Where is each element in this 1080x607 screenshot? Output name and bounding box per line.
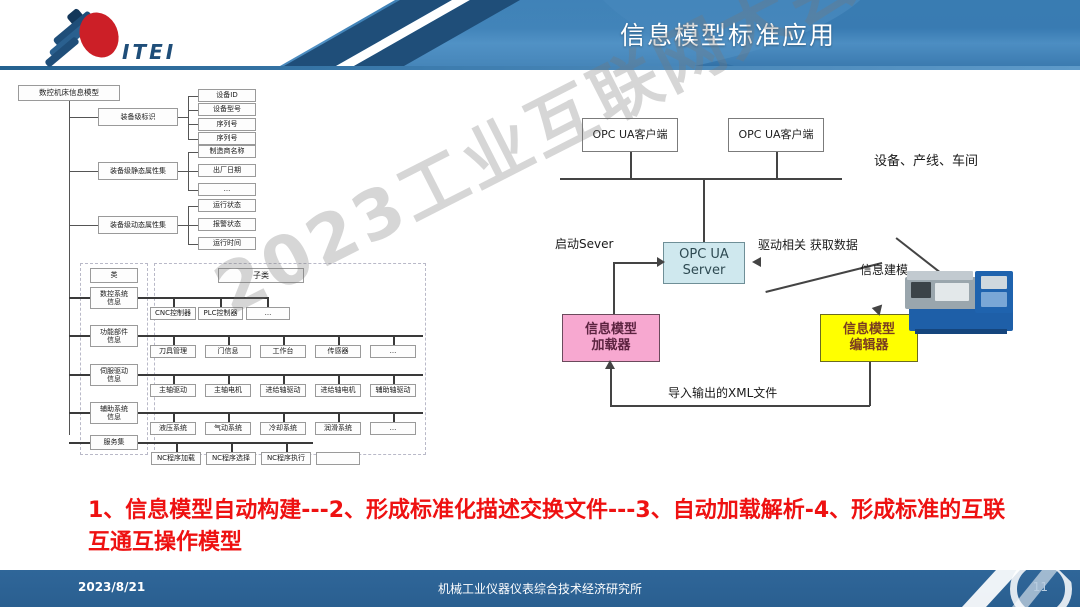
xml-path-line-bottom bbox=[610, 405, 870, 407]
xml-file-label: 导入输出的XML文件 bbox=[668, 384, 777, 401]
logo-wordmark: ITEI bbox=[122, 40, 176, 64]
subclass-drop-line bbox=[267, 297, 269, 307]
tree-connector-line bbox=[178, 117, 188, 118]
page-number: 11 bbox=[1033, 580, 1048, 594]
tree-branch-line bbox=[69, 374, 90, 376]
subclass-bus-line bbox=[138, 297, 268, 299]
network-bus-line bbox=[560, 178, 842, 180]
tree-leaf-box: 序列号 bbox=[198, 132, 256, 145]
subclass-box: NC程序选择 bbox=[206, 452, 256, 465]
opc-ua-client-right-box: OPC UA客户端 bbox=[728, 118, 824, 152]
subclass-bus-line bbox=[138, 374, 423, 376]
machine-keypad bbox=[981, 292, 1007, 307]
tree-connector-line bbox=[178, 171, 188, 172]
subclass-drop-line bbox=[283, 412, 285, 422]
subclass-drop-line bbox=[393, 335, 395, 345]
tree-node-dynamic-attributes: 装备级动态属性集 bbox=[98, 216, 178, 234]
category-box-cnc-system: 数控系统 信息 bbox=[90, 287, 138, 309]
footer-organization: 机械工业仪器仪表综合技术经济研究所 bbox=[0, 580, 1080, 597]
opc-ua-client-left-box: OPC UA客户端 bbox=[582, 118, 678, 152]
equipment-production-line-workshop-label: 设备、产线、车间 bbox=[874, 150, 978, 169]
subclass-drop-line bbox=[173, 297, 175, 307]
category-box-servo-drive: 伺服驱动 信息 bbox=[90, 364, 138, 386]
subclass-drop-line bbox=[173, 335, 175, 345]
machine-screen bbox=[981, 276, 1007, 289]
subclass-drop-line bbox=[283, 374, 285, 384]
tree-leaf-line bbox=[188, 110, 198, 111]
tree-root-box: 数控机床信息模型 bbox=[18, 85, 120, 101]
tree-leaf-line bbox=[188, 139, 198, 140]
subclass-bus-line bbox=[138, 335, 423, 337]
loader-to-server-line bbox=[613, 262, 657, 264]
column-header-class: 类 bbox=[90, 268, 138, 283]
subclass-drop-line bbox=[393, 374, 395, 384]
subclass-drop-line bbox=[228, 335, 230, 345]
tree-leaf-box: 运行时间 bbox=[198, 237, 256, 250]
tree-leaf-box: 出厂日期 bbox=[198, 164, 256, 177]
subclass-box: 门信息 bbox=[205, 345, 251, 358]
subclass-drop-line bbox=[176, 442, 178, 452]
tree-connector-line bbox=[188, 96, 189, 139]
page-title: 信息模型标准应用 bbox=[620, 16, 836, 52]
subclass-box: NC程序执行 bbox=[261, 452, 311, 465]
subclass-box: 主轴驱动 bbox=[150, 384, 196, 397]
tree-node-static-attributes: 装备级静态属性集 bbox=[98, 162, 178, 180]
tree-branch-line bbox=[69, 117, 98, 118]
loader-to-server-arrow-icon bbox=[657, 257, 665, 267]
tree-node-identification: 装备级标识 bbox=[98, 108, 178, 126]
slide-header: ITEI 信息模型标准应用 bbox=[0, 0, 1080, 70]
tree-leaf-box: 设备ID bbox=[198, 89, 256, 102]
subclass-drop-line bbox=[231, 442, 233, 452]
subclass-box: 进给轴驱动 bbox=[260, 384, 306, 397]
driver-data-label: 驱动相关 获取数据 bbox=[758, 236, 858, 253]
machine-footing bbox=[915, 329, 1007, 334]
tree-leaf-box: 运行状态 bbox=[198, 199, 256, 212]
tree-branch-line bbox=[69, 171, 98, 172]
subclass-box: 传感器 bbox=[315, 345, 361, 358]
tree-leaf-box: 设备型号 bbox=[198, 103, 256, 116]
bus-to-server-line bbox=[703, 178, 705, 242]
cnc-information-model-tree: 数控机床信息模型 装备级标识 设备ID 设备型号 序列号 序列号 装备级静态属性… bbox=[18, 85, 438, 475]
subclass-drop-line bbox=[393, 412, 395, 422]
subclass-box: 气动系统 bbox=[205, 422, 251, 435]
subclass-box: PLC控制器 bbox=[198, 307, 243, 320]
subclass-box: ... bbox=[370, 345, 416, 358]
tree-leaf-line bbox=[188, 124, 198, 125]
subclass-drop-line bbox=[338, 374, 340, 384]
subclass-box: 辅助轴驱动 bbox=[370, 384, 416, 397]
subclass-bus-line bbox=[138, 412, 423, 414]
tree-leaf-box: 制造商名称 bbox=[198, 145, 256, 158]
machine-control-unit bbox=[911, 282, 931, 298]
slide-content: 数控机床信息模型 装备级标识 设备ID 设备型号 序列号 序列号 装备级静态属性… bbox=[0, 70, 1080, 570]
tree-leaf-box: ... bbox=[198, 183, 256, 196]
tree-branch-line bbox=[69, 297, 90, 299]
subclass-drop-line bbox=[286, 442, 288, 452]
itei-logo: ITEI bbox=[36, 10, 216, 62]
machine-top-cover bbox=[907, 271, 973, 280]
tree-branch-line bbox=[69, 225, 98, 226]
category-box-functional-components: 功能部件 信息 bbox=[90, 325, 138, 347]
tree-branch-line bbox=[69, 442, 90, 444]
tree-leaf-box: 报警状态 bbox=[198, 218, 256, 231]
subclass-drop-line bbox=[228, 374, 230, 384]
machine-to-server-arrow-icon bbox=[752, 257, 761, 267]
subclass-box: 冷却系统 bbox=[260, 422, 306, 435]
start-server-label: 启动Sever bbox=[555, 235, 613, 252]
subclass-drop-line bbox=[173, 374, 175, 384]
subclass-box: 刀具管理 bbox=[150, 345, 196, 358]
subclass-drop-line bbox=[283, 335, 285, 345]
subclass-drop-line bbox=[228, 412, 230, 422]
tree-connector-line bbox=[178, 225, 188, 226]
tree-leaf-line bbox=[188, 152, 198, 153]
tree-branch-line bbox=[69, 335, 90, 337]
subclass-box bbox=[316, 452, 360, 465]
tree-leaf-line bbox=[188, 225, 198, 226]
cnc-lathe-image bbox=[901, 265, 1019, 335]
subclass-drop-line bbox=[338, 335, 340, 345]
loader-up-line bbox=[613, 262, 615, 314]
information-model-loader-box: 信息模型 加载器 bbox=[562, 314, 660, 362]
tree-trunk-line bbox=[69, 101, 70, 435]
xml-path-line-right bbox=[869, 362, 871, 406]
subclass-box: CNC控制器 bbox=[150, 307, 196, 320]
opc-ua-server-box: OPC UA Server bbox=[663, 242, 745, 284]
subclass-box: 润滑系统 bbox=[315, 422, 361, 435]
subclass-drop-line bbox=[220, 297, 222, 307]
tree-branch-line bbox=[69, 412, 90, 414]
subclass-box: 液压系统 bbox=[150, 422, 196, 435]
tree-leaf-line bbox=[188, 190, 198, 191]
xml-path-line-left bbox=[610, 368, 612, 406]
client-left-drop-line bbox=[630, 152, 632, 178]
tree-leaf-line bbox=[188, 96, 198, 97]
column-header-subclass: 子类 bbox=[218, 268, 304, 283]
category-box-auxiliary-system: 辅助系统 信息 bbox=[90, 402, 138, 424]
slide-footer: 2023/8/21 机械工业仪器仪表综合技术经济研究所 11 bbox=[0, 570, 1080, 607]
subclass-box: NC程序加载 bbox=[151, 452, 201, 465]
subclass-box: 工作台 bbox=[260, 345, 306, 358]
client-right-drop-line bbox=[776, 152, 778, 178]
tree-leaf-box: 序列号 bbox=[198, 118, 256, 131]
machine-window bbox=[935, 283, 969, 301]
summary-caption: 1、信息模型自动构建---2、形成标准化描述交换文件---3、自动加载解析-4、… bbox=[88, 495, 1008, 559]
subclass-box: ... bbox=[246, 307, 290, 320]
subclass-drop-line bbox=[338, 412, 340, 422]
subclass-drop-line bbox=[173, 412, 175, 422]
tree-leaf-line bbox=[188, 244, 198, 245]
tree-leaf-line bbox=[188, 171, 198, 172]
tree-leaf-line bbox=[188, 206, 198, 207]
category-box-service-set: 服务集 bbox=[90, 435, 138, 450]
subclass-box: ... bbox=[370, 422, 416, 435]
subclass-box: 进给轴电机 bbox=[315, 384, 361, 397]
subclass-box: 主轴电机 bbox=[205, 384, 251, 397]
xml-to-loader-arrow-icon bbox=[605, 360, 615, 369]
